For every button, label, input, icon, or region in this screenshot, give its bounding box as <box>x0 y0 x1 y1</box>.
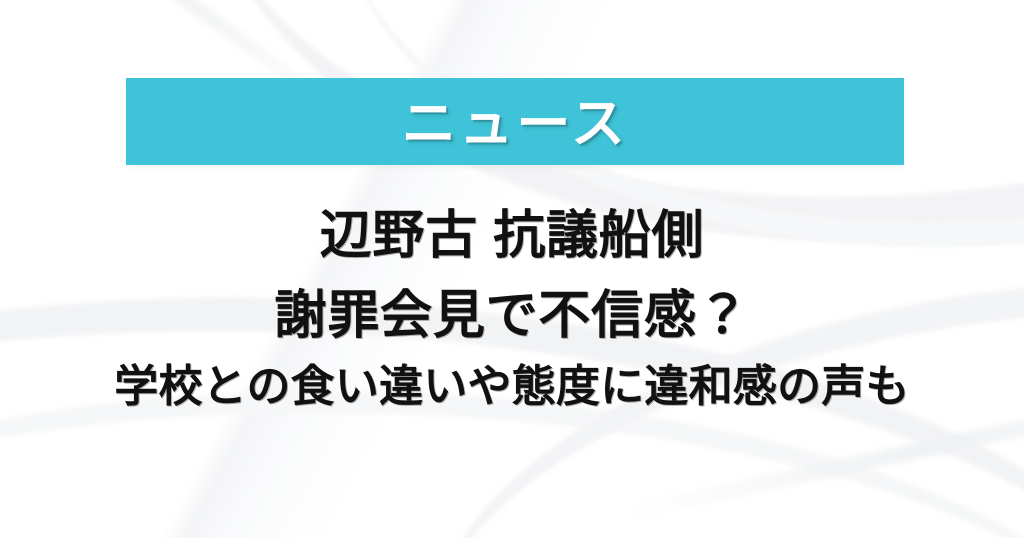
headline-line-1: 辺野古 抗議船側 <box>0 196 1024 276</box>
headline-line-2: 謝罪会見で不信感？ <box>0 276 1024 356</box>
category-banner-label: ニュース <box>402 97 628 151</box>
headline-block: 辺野古 抗議船側 謝罪会見で不信感？ 学校との食い違いや態度に違和感の声も <box>0 196 1024 418</box>
category-banner: ニュース <box>126 78 904 165</box>
headline-line-3: 学校との食い違いや態度に違和感の声も <box>0 356 1024 418</box>
news-thumbnail-card: ニュース 辺野古 抗議船側 謝罪会見で不信感？ 学校との食い違いや態度に違和感の… <box>0 0 1024 538</box>
